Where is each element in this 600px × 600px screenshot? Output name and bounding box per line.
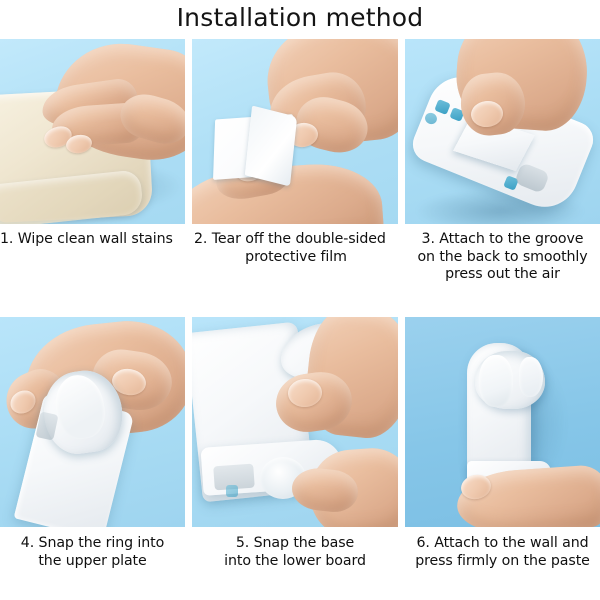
caption-line-2: into the lower board	[224, 553, 366, 569]
step-photo-3	[405, 39, 600, 224]
caption-line-2: protective film	[194, 249, 398, 267]
step-card-3: 3. Attach to the grooveon the back to sm…	[405, 39, 600, 284]
cradle-cup	[479, 355, 513, 407]
caption-line-1: 3. Attach to the groove	[422, 231, 584, 247]
caption-line-2: press firmly on the paste	[415, 553, 590, 569]
step-card-5: 5. Snap the baseinto the lower board	[192, 317, 398, 570]
step-photo-1	[0, 39, 185, 224]
caption-line-1: 2. Tear off the double-sided	[194, 231, 386, 247]
step-photo-6	[405, 317, 600, 527]
caption-line-2: the upper plate	[38, 553, 146, 569]
step-photo-5	[192, 317, 398, 527]
caption-line-1: 6. Attach to the wall and	[416, 535, 588, 551]
step-photo-2	[192, 39, 398, 224]
step-card-6: 6. Attach to the wall andpress firmly on…	[405, 317, 600, 570]
step-caption-1: 1. Wipe clean wall stains	[0, 231, 185, 249]
step-caption-2: 2. Tear off the double-sidedprotective f…	[192, 231, 398, 266]
step-card-1: 1. Wipe clean wall stains	[0, 39, 185, 249]
caption-line-1: 4. Snap the ring into	[21, 535, 164, 551]
page-title: Installation method	[0, 2, 600, 34]
step-photo-4	[0, 317, 185, 527]
infographic-page: Installation method 1. Wipe clean wall s…	[0, 0, 600, 600]
step-card-2: 2. Tear off the double-sidedprotective f…	[192, 39, 398, 266]
caption-line-3: press out the air	[445, 266, 560, 282]
protective-film-peel	[245, 106, 297, 187]
step-caption-5: 5. Snap the baseinto the lower board	[192, 535, 398, 570]
caption-line-2: on the back to smoothly	[417, 249, 587, 265]
step-caption-4: 4. Snap the ring intothe upper plate	[0, 535, 185, 570]
caption-line-1: 5. Snap the base	[236, 535, 354, 551]
base-detail	[226, 485, 238, 497]
cradle-wing	[519, 357, 543, 397]
step-caption-6: 6. Attach to the wall andpress firmly on…	[405, 535, 600, 570]
step-caption-3: 3. Attach to the grooveon the back to sm…	[405, 231, 600, 284]
step-card-4: 4. Snap the ring intothe upper plate	[0, 317, 185, 570]
